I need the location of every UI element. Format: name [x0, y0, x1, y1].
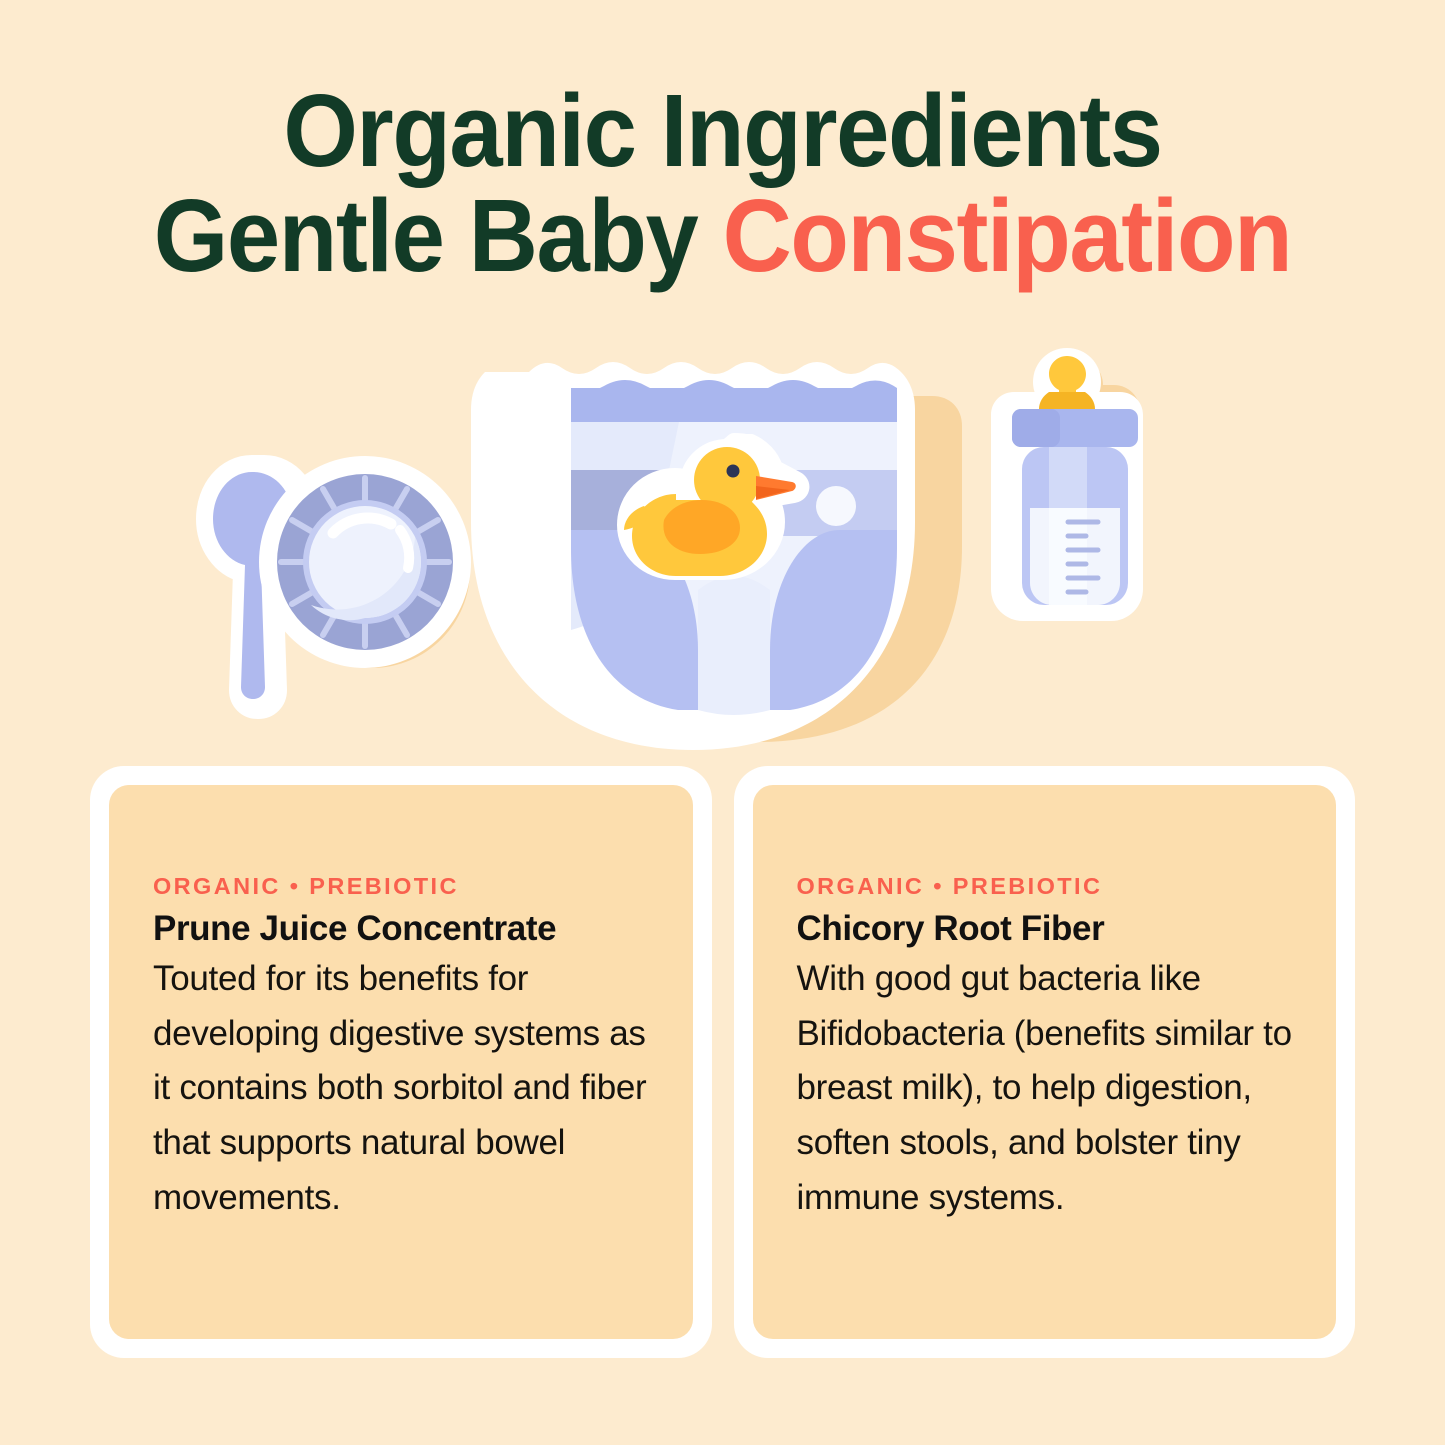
- spoon-and-bowl-icon: [206, 456, 471, 709]
- diaper-with-duck-icon: [471, 362, 962, 750]
- page-title-line-1-text: Organic Ingredients: [283, 73, 1161, 188]
- page-title-line-1: Organic Ingredients: [51, 78, 1395, 183]
- hero-illustration: [0, 330, 1445, 760]
- ingredient-card-prune-juice-inner: ORGANIC • PREBIOTIC Prune Juice Concentr…: [109, 785, 693, 1339]
- ingredient-card-chicory-root: ORGANIC • PREBIOTIC Chicory Root Fiber W…: [734, 766, 1356, 1358]
- hero-illustration-svg: [0, 330, 1445, 760]
- page-title: Organic Ingredients Gentle Baby Constipa…: [51, 78, 1395, 288]
- ingredient-cards: ORGANIC • PREBIOTIC Prune Juice Concentr…: [90, 766, 1355, 1358]
- ingredient-card-title: Chicory Root Fiber: [797, 908, 1293, 949]
- ingredient-card-body: With good gut bacteria like Bifidobacter…: [797, 952, 1293, 1225]
- page-title-line-2-green-text: Gentle Baby: [154, 178, 723, 293]
- ingredient-card-chicory-root-inner: ORGANIC • PREBIOTIC Chicory Root Fiber W…: [753, 785, 1337, 1339]
- ingredient-card-prune-juice: ORGANIC • PREBIOTIC Prune Juice Concentr…: [90, 766, 712, 1358]
- baby-bottle-icon: [991, 348, 1143, 621]
- poster-root: Organic Ingredients Gentle Baby Constipa…: [0, 0, 1445, 1445]
- page-title-line-2: Gentle Baby Constipation: [51, 183, 1395, 288]
- ingredient-card-title: Prune Juice Concentrate: [153, 908, 649, 949]
- page-title-line-2-coral-text: Constipation: [723, 178, 1292, 293]
- ingredient-card-body: Touted for its benefits for developing d…: [153, 952, 649, 1225]
- ingredient-card-eyebrow: ORGANIC • PREBIOTIC: [153, 873, 649, 900]
- ingredient-card-eyebrow: ORGANIC • PREBIOTIC: [797, 873, 1293, 900]
